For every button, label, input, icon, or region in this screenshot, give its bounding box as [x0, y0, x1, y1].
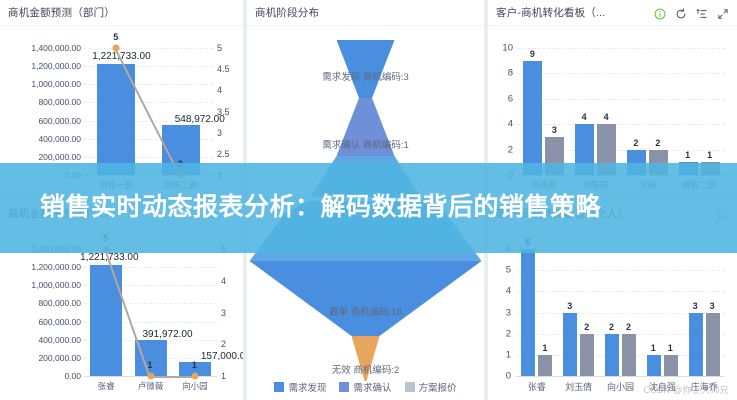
- bar: [706, 313, 720, 377]
- info-circle-icon[interactable]: [654, 7, 666, 19]
- gridline: [518, 124, 725, 125]
- y-axis-tick-right: 4: [217, 85, 222, 95]
- gridline: [516, 270, 725, 271]
- y-axis-tick-right: 3: [221, 308, 226, 318]
- line-value-label: 5: [113, 32, 118, 42]
- y-axis-tick-left: 1,200,000.00: [0, 61, 81, 71]
- gridline: [516, 291, 725, 292]
- legend-swatch: [405, 382, 415, 392]
- line-value-label: 1: [148, 360, 153, 370]
- legend-label: 需求发现: [288, 380, 326, 394]
- card-title: 客户-商机转化看板（...: [496, 5, 605, 20]
- article-title-banner: 销售实时动态报表分析：解码数据背后的销售策略: [0, 163, 737, 253]
- bar-value-label: 391,972.00: [143, 329, 193, 340]
- bar-value-label: 1: [685, 150, 690, 160]
- bar-value-label: 3: [552, 125, 557, 135]
- bar-value-label: 2: [609, 322, 614, 332]
- bar: [647, 355, 661, 376]
- y-axis-tick-right: 3: [217, 128, 222, 138]
- y-axis-tick-left: 0.00: [0, 371, 81, 381]
- funnel-segment-stage4: [250, 261, 482, 336]
- y-axis-tick: 5: [488, 265, 511, 276]
- bar-value-label: 1: [542, 343, 547, 353]
- legend-item[interactable]: 需求确认: [339, 380, 391, 394]
- card-header: 客户-商机转化看板（...: [488, 0, 737, 26]
- bar-value-label: 4: [604, 112, 609, 122]
- funnel-label-stage5: 无效 商机编码:2: [332, 362, 400, 376]
- funnel-legend: 需求发现需求确认方案报价: [247, 380, 484, 394]
- legend-label: 需求确认: [353, 380, 391, 394]
- bar: [689, 313, 703, 377]
- x-axis-label: 向小园: [607, 380, 634, 393]
- x-axis-label: 刘玉倩: [565, 380, 592, 393]
- card-title: 商机阶段分布: [255, 5, 319, 20]
- y-axis-tick-left: 800,000.00: [0, 97, 81, 107]
- bar-value-label: 1: [651, 343, 656, 353]
- y-axis-tick-right: 4: [221, 276, 226, 286]
- watermark-text: CSDN @你上大师兄: [644, 383, 729, 396]
- bar-value-label: 157,000.00: [201, 351, 243, 362]
- legend-swatch: [339, 382, 349, 392]
- bar-value-label: 9: [530, 49, 535, 59]
- y-axis-tick-left: 1,400,000.00: [0, 43, 81, 53]
- x-axis-label: 张睿: [98, 380, 115, 392]
- y-axis-tick: 8: [488, 68, 513, 79]
- x-axis-label: 向小园: [182, 380, 208, 392]
- line-segment: [151, 376, 195, 378]
- line-data-point: [147, 373, 154, 380]
- refresh-icon[interactable]: [675, 7, 687, 19]
- card-header-actions: [654, 7, 729, 19]
- y-axis-tick-left: 600,000.00: [0, 116, 81, 126]
- y-axis-tick-right: 4.5: [217, 64, 230, 74]
- line-value-label: 1: [192, 360, 197, 370]
- gridline: [518, 48, 725, 49]
- y-axis-tick-left: 400,000.00: [0, 134, 81, 144]
- legend-item[interactable]: 需求发现: [274, 380, 326, 394]
- y-axis-tick-left: 1,200,000.00: [0, 262, 81, 272]
- bar: [538, 355, 552, 376]
- y-axis-tick-left: 200,000.00: [0, 152, 81, 162]
- bar-value-label: 2: [626, 322, 631, 332]
- card-header: 商机阶段分布: [247, 0, 484, 26]
- funnel-label-stage4: 赢单 商机编码:18: [329, 304, 402, 318]
- article-title-text: 销售实时动态报表分析：解码数据背后的销售策略: [40, 193, 697, 223]
- y-axis-tick-left: 200,000.00: [0, 353, 81, 363]
- y-axis-tick-left: 400,000.00: [0, 335, 81, 345]
- x-axis-label: 卢微薇: [138, 380, 164, 392]
- bar: [563, 313, 577, 377]
- bar-value-label: 1: [707, 150, 712, 160]
- bar-value-label: 2: [633, 138, 638, 148]
- y-axis-tick-left: 800,000.00: [0, 298, 81, 308]
- bar: [580, 334, 594, 376]
- fullscreen-expand-icon[interactable]: [717, 7, 729, 19]
- legend-swatch: [274, 382, 284, 392]
- y-axis-tick: 2: [488, 328, 511, 339]
- y-axis-tick: 0: [488, 371, 511, 382]
- bar-value-label: 548,972.00: [175, 114, 225, 125]
- funnel-label-stage2: 需求确认 商机编码:1: [322, 137, 409, 151]
- bar-value-label: 2: [584, 322, 589, 332]
- y-axis-tick: 1: [488, 349, 511, 360]
- gridline: [518, 73, 725, 74]
- card-title: 商机金额预测（部门）: [8, 5, 115, 20]
- y-axis-tick-right: 2.5: [217, 149, 230, 159]
- y-axis-tick-right: 2: [221, 339, 226, 349]
- y-axis-tick: 10: [488, 43, 513, 54]
- x-axis-line: [516, 376, 725, 377]
- bar-value-label: 3: [567, 301, 572, 311]
- legend-label: 方案报价: [419, 380, 457, 394]
- line-data-point: [191, 373, 198, 380]
- bar-value-label: 3: [693, 301, 698, 311]
- legend-item[interactable]: 方案报价: [405, 380, 457, 394]
- bar: [605, 334, 619, 376]
- y-axis-tick: 3: [488, 307, 511, 318]
- y-axis-tick-left: 1,000,000.00: [0, 79, 81, 89]
- y-axis-tick: 6: [488, 93, 513, 104]
- bar-value-label: 3: [710, 301, 715, 311]
- bar: [521, 249, 535, 376]
- bar-value-label: 1: [668, 343, 673, 353]
- line-data-point: [113, 45, 120, 52]
- funnel-label-stage1: 需求发现 商机编码:3: [322, 69, 409, 83]
- x-axis-label: 张睿: [528, 380, 546, 393]
- y-axis-tick: 2: [488, 144, 513, 155]
- bar: [523, 61, 542, 175]
- bar-value-label: 4: [582, 112, 587, 122]
- dashboard-root: 商机金额预测（部门） 0.00200,000.00400,000.00600,0…: [0, 0, 737, 400]
- bar: [664, 355, 678, 376]
- y-axis-tick-left: 600,000.00: [0, 317, 81, 327]
- card-header: 商机金额预测（部门）: [0, 0, 243, 26]
- y-axis-tick-right: 1: [221, 371, 226, 381]
- gridline: [84, 48, 213, 49]
- y-axis-tick: 4: [488, 286, 511, 297]
- bar: [622, 334, 636, 376]
- list-order-icon[interactable]: [696, 7, 708, 19]
- gridline: [518, 99, 725, 100]
- bar-value-label: 2: [655, 138, 660, 148]
- y-axis-tick-right: 5: [217, 43, 222, 53]
- y-axis-tick-left: 1,000,000.00: [0, 280, 81, 290]
- y-axis-tick: 4: [488, 119, 513, 130]
